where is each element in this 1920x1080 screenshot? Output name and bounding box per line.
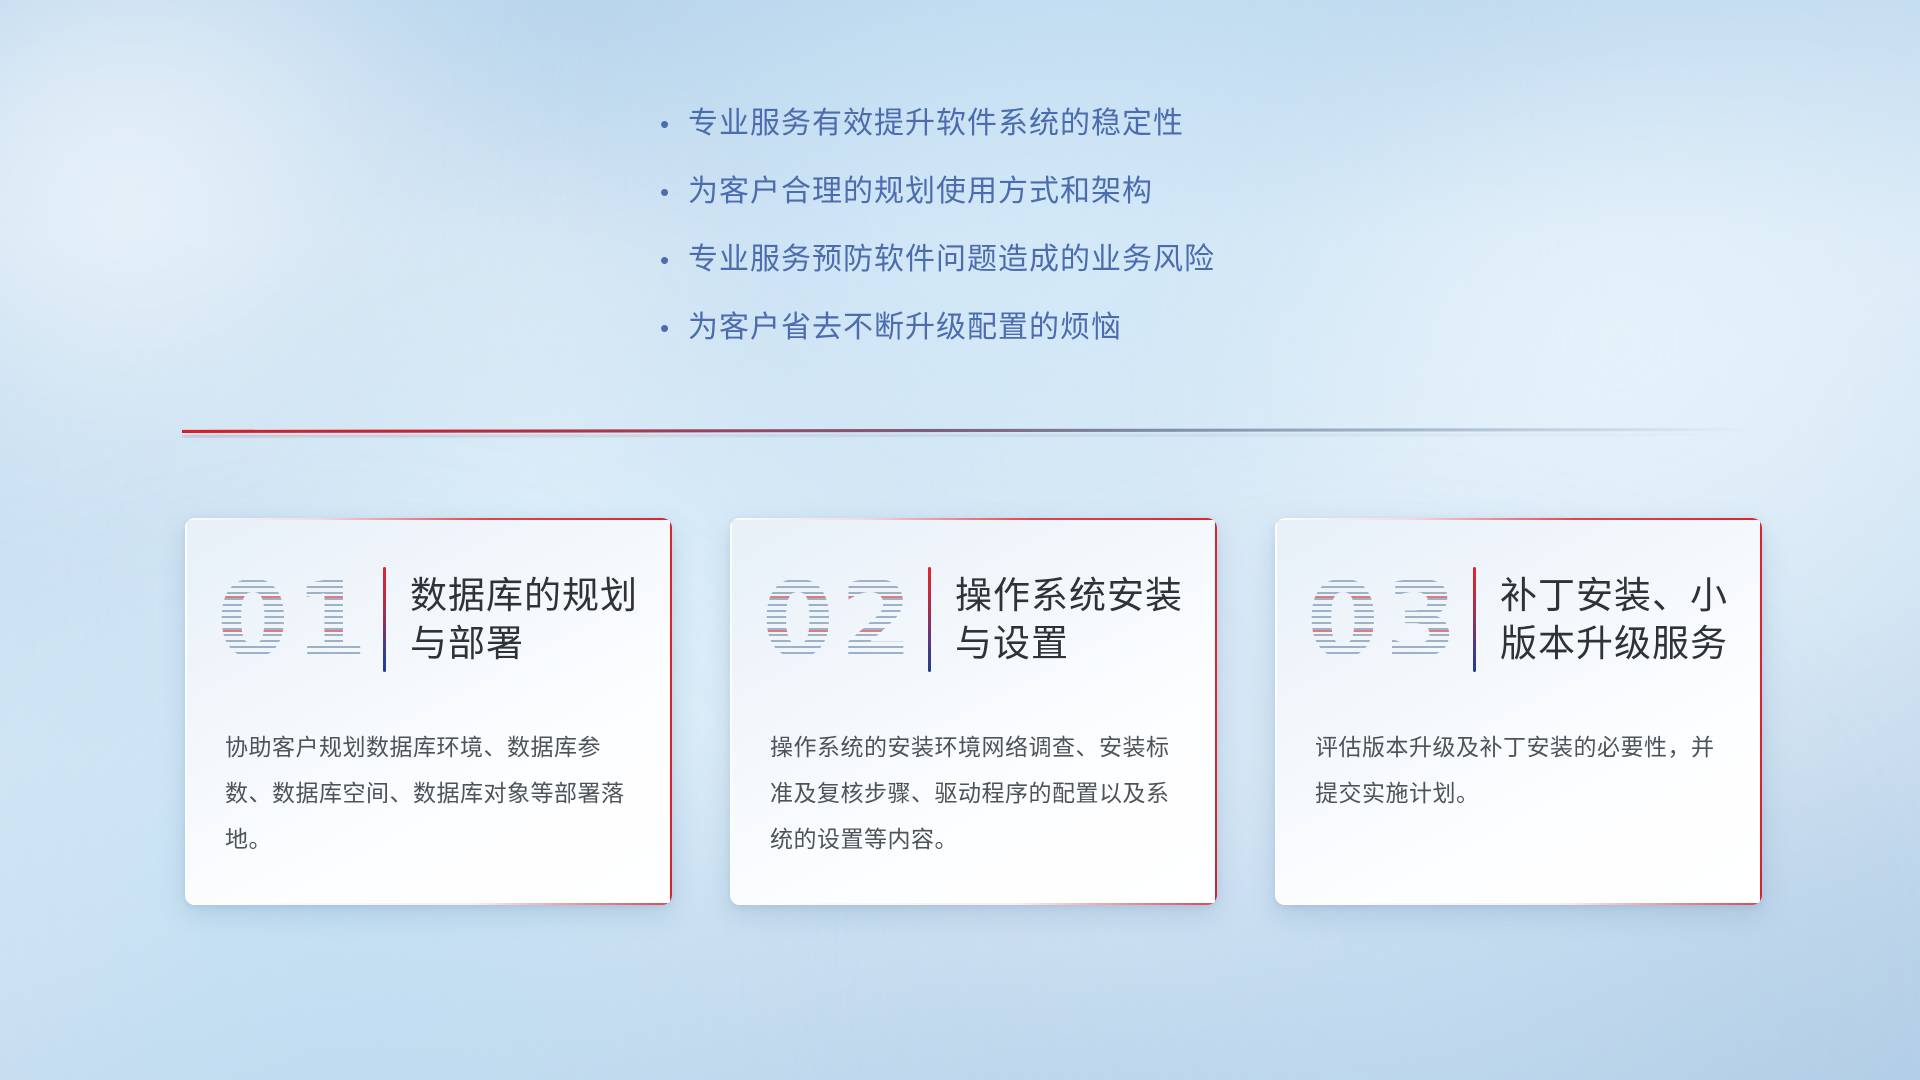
card-title: 数据库的规划与部署	[410, 572, 672, 667]
card-header: 02 02 操作系统安装与设置	[730, 552, 1217, 687]
card-number-red-accent: 01	[211, 562, 379, 678]
bullet-text: 为客户省去不断升级配置的烦恼	[688, 310, 1440, 346]
card-title-divider	[928, 567, 931, 672]
bullet-marker-icon: •	[660, 111, 688, 137]
benefits-bullet-list: • 专业服务有效提升软件系统的稳定性 • 为客户合理的规划使用方式和架构 • 专…	[660, 106, 1440, 346]
divider-shadow	[182, 433, 1752, 438]
card-number-graphic: 02 02	[756, 562, 924, 678]
card-header: 01 01 数据库的规划与部署	[185, 552, 672, 687]
card-edge-bottom	[1275, 903, 1762, 905]
list-item: • 专业服务预防软件问题造成的业务风险	[660, 242, 1440, 278]
card-title: 补丁安装、小版本升级服务	[1500, 572, 1762, 667]
list-item: • 为客户省去不断升级配置的烦恼	[660, 310, 1440, 346]
card-body-text: 操作系统的安装环境网络调查、安装标准及复核步骤、驱动程序的配置以及系统的设置等内…	[770, 724, 1181, 862]
card-title: 操作系统安装与设置	[955, 572, 1217, 667]
card-title-divider	[383, 567, 386, 672]
section-divider-rule	[182, 425, 1752, 439]
card-number-red-accent: 02	[756, 562, 924, 678]
bullet-marker-icon: •	[660, 179, 688, 205]
card-edge-top	[185, 518, 672, 520]
card-edge-bottom	[730, 903, 1217, 905]
card-edge-top	[1275, 518, 1762, 520]
card-edge-top	[730, 518, 1217, 520]
service-card-list: 01 01 数据库的规划与部署 协助客户规划数据库环境、数据库参数、数据库空间、…	[185, 518, 1762, 905]
card-number-graphic: 03 03	[1301, 562, 1469, 678]
bullet-text: 专业服务预防软件问题造成的业务风险	[688, 242, 1440, 278]
card-body-text: 协助客户规划数据库环境、数据库参数、数据库空间、数据库对象等部署落地。	[225, 724, 636, 862]
card-number-red-accent: 03	[1301, 562, 1469, 678]
card-edge-bottom	[185, 903, 672, 905]
service-card-01[interactable]: 01 01 数据库的规划与部署 协助客户规划数据库环境、数据库参数、数据库空间、…	[185, 518, 672, 905]
list-item: • 为客户合理的规划使用方式和架构	[660, 174, 1440, 210]
list-item: • 专业服务有效提升软件系统的稳定性	[660, 106, 1440, 142]
service-card-03[interactable]: 03 03 补丁安装、小版本升级服务 评估版本升级及补丁安装的必要性，并提交实施…	[1275, 518, 1762, 905]
card-body-text: 评估版本升级及补丁安装的必要性，并提交实施计划。	[1315, 724, 1726, 816]
card-title-divider	[1473, 567, 1476, 672]
bullet-marker-icon: •	[660, 315, 688, 341]
bullet-text: 专业服务有效提升软件系统的稳定性	[688, 106, 1440, 142]
bullet-text: 为客户合理的规划使用方式和架构	[688, 174, 1440, 210]
card-header: 03 03 补丁安装、小版本升级服务	[1275, 552, 1762, 687]
service-card-02[interactable]: 02 02 操作系统安装与设置 操作系统的安装环境网络调查、安装标准及复核步骤、…	[730, 518, 1217, 905]
bullet-marker-icon: •	[660, 247, 688, 273]
card-number-graphic: 01 01	[211, 562, 379, 678]
divider-line	[182, 428, 1752, 433]
